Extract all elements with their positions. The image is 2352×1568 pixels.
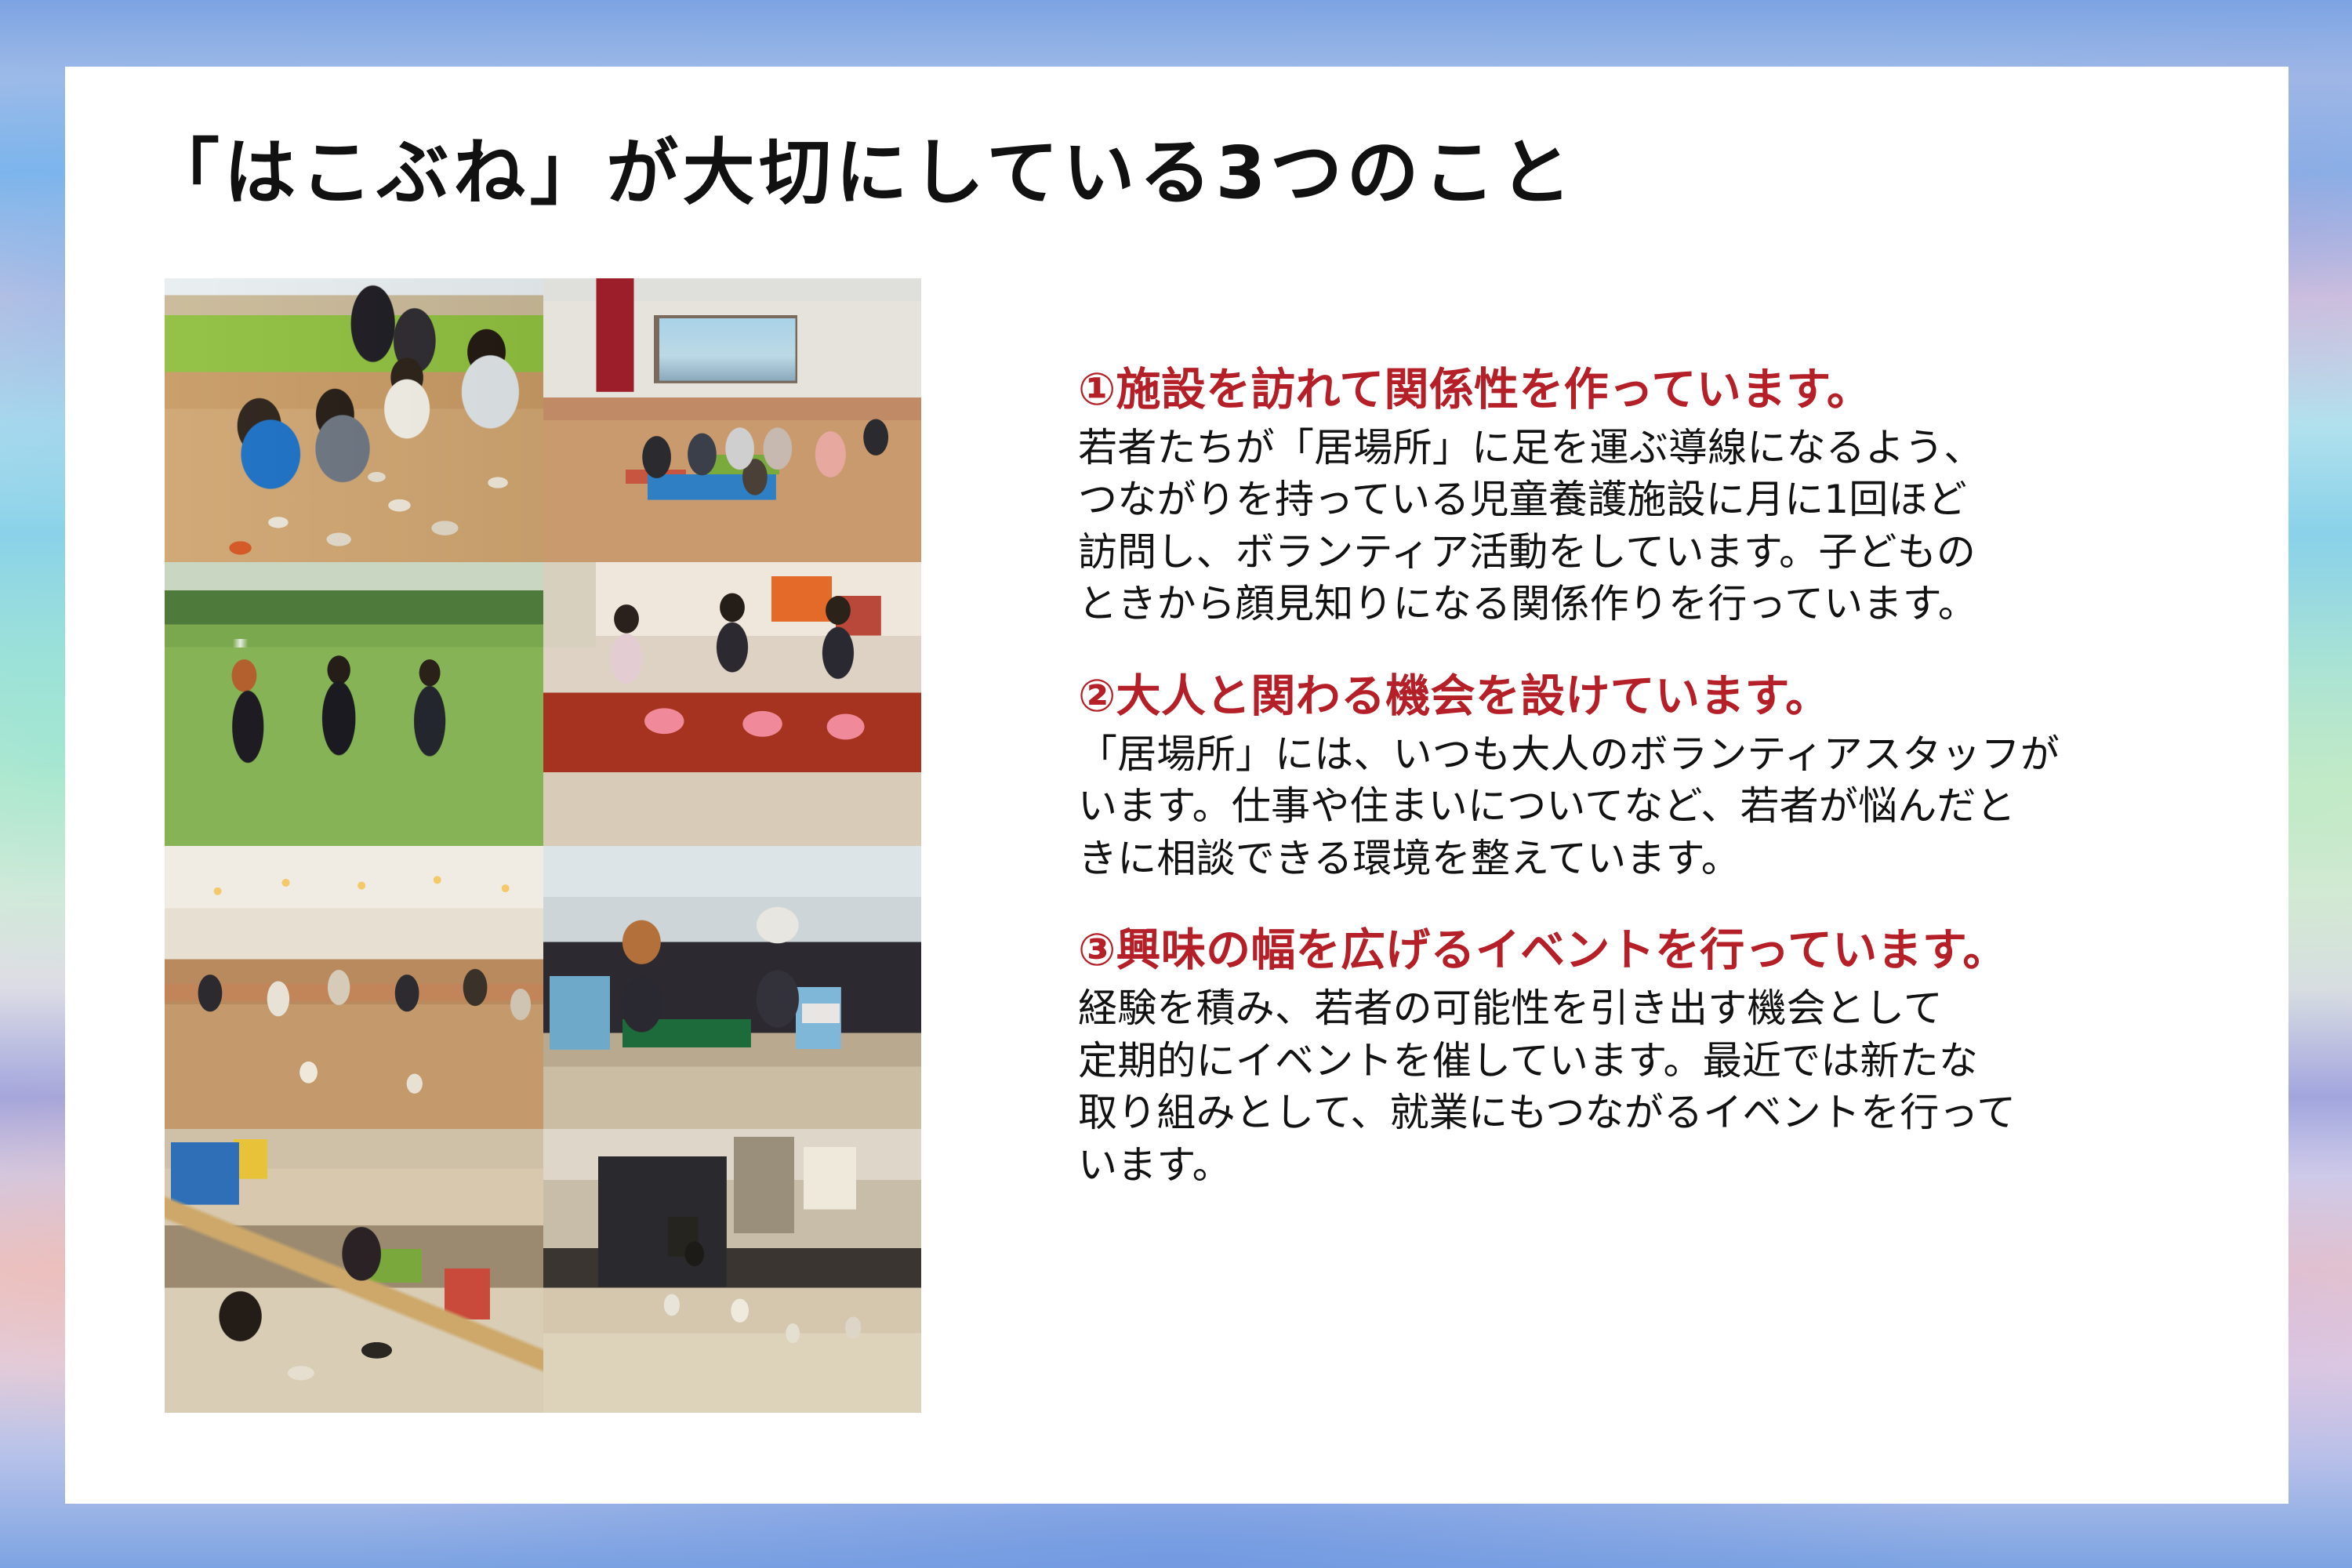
- body-line: 若者たちが「居場所」に足を運ぶ導線になるよう、: [1078, 422, 2301, 474]
- section-1-body: 若者たちが「居場所」に足を運ぶ導線になるよう、 つながりを持っている児童養護施設…: [1078, 422, 2301, 630]
- photo-image: [543, 846, 922, 1130]
- photo-image: [543, 278, 922, 562]
- photo-classroom-newspaper-craft: [165, 278, 543, 562]
- section-3-heading: ③興味の幅を広げるイベントを行っています。: [1078, 925, 2301, 976]
- photo-image: [165, 562, 543, 846]
- section-2-heading: ②大人と関わる機会を設けています。: [1078, 671, 2301, 722]
- photo-image: [165, 278, 543, 562]
- photo-board-game-table: [543, 846, 922, 1130]
- section-2: ②大人と関わる機会を設けています。 「居場所」には、いつも大人のボランティアスタ…: [1078, 671, 2301, 884]
- photo-image: [543, 562, 922, 846]
- photo-image: [165, 846, 543, 1130]
- text-column: ①施設を訪れて関係性を作っています。 若者たちが「居場所」に足を運ぶ導線になるよ…: [1078, 365, 2301, 1191]
- body-line: 定期的にイベントを催しています。最近では新たな: [1078, 1035, 2301, 1087]
- body-line: 「居場所」には、いつも大人のボランティアスタッフが: [1078, 728, 2301, 781]
- body-line: ときから顔見知りになる関係作りを行っています。: [1078, 578, 2301, 630]
- page-title: 「はこぶね」が大切にしている3つのこと: [147, 137, 1576, 209]
- section-3: ③興味の幅を広げるイベントを行っています。 経験を積み、若者の可能性を引き出す機…: [1078, 925, 2301, 1191]
- photo-grid: [165, 278, 921, 1413]
- body-line: います。仕事や住まいについてなど、若者が悩んだと: [1078, 780, 2301, 833]
- body-line: 訪問し、ボランティア活動をしています。子どもの: [1078, 526, 2301, 579]
- section-3-body: 経験を積み、若者の可能性を引き出す機会として 定期的にイベントを催しています。最…: [1078, 982, 2301, 1191]
- content-card: 「はこぶね」が大切にしている3つのこと ①施設を訪れて関係性を作っています。 若…: [65, 67, 2288, 1504]
- photo-image: [543, 1129, 922, 1413]
- photo-park-outdoor-activity: [165, 562, 543, 846]
- body-line: きに相談できる環境を整えています。: [1078, 833, 2301, 885]
- section-1-heading: ①施設を訪れて関係性を作っています。: [1078, 365, 2301, 416]
- photo-hall-projector-screen: [543, 278, 922, 562]
- body-line: つながりを持っている児童養護施設に月に1回ほど: [1078, 474, 2301, 526]
- photo-coffee-pour-over: [543, 1129, 922, 1413]
- body-line: います。: [1078, 1139, 2301, 1192]
- body-line: 経験を積み、若者の可能性を引き出す機会として: [1078, 982, 2301, 1035]
- section-1: ①施設を訪れて関係性を作っています。 若者たちが「居場所」に足を運ぶ導線になるよ…: [1078, 365, 2301, 630]
- section-2-body: 「居場所」には、いつも大人のボランティアスタッフが います。仕事や住まいについて…: [1078, 728, 2301, 885]
- photo-food-preparation: [165, 1129, 543, 1413]
- body-line: 取り組みとして、就業にもつながるイベントを行って: [1078, 1087, 2301, 1139]
- photo-image: [165, 1129, 543, 1413]
- photo-cooking-red-gloves: [543, 562, 922, 846]
- photo-workshop-tables: [165, 846, 543, 1130]
